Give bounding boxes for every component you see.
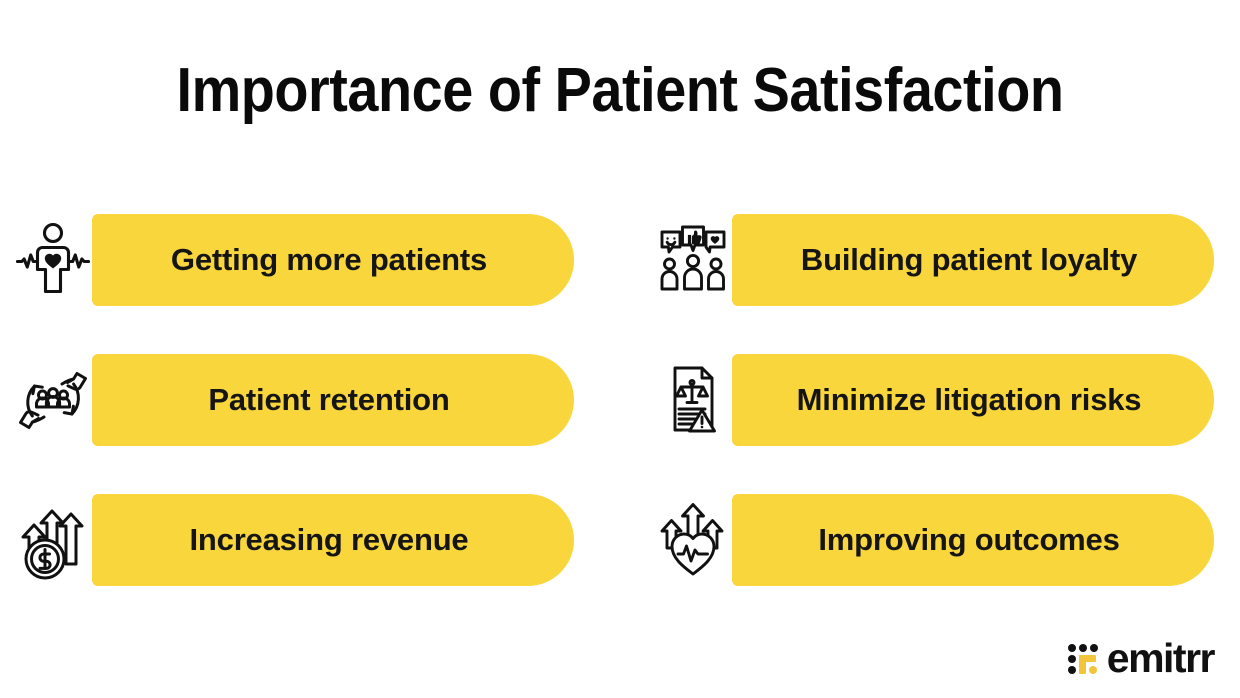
benefit-label: Getting more patients: [171, 243, 487, 277]
benefit-label: Building patient loyalty: [801, 243, 1137, 277]
emitrr-logo-mark-icon: [1068, 643, 1098, 673]
legal-document-scales-warning-icon: [654, 352, 732, 448]
hands-people-cycle-icon: [14, 352, 92, 448]
benefit-pill[interactable]: Improving outcomes: [732, 494, 1214, 586]
benefit-label: Patient retention: [208, 383, 449, 417]
person-heartbeat-icon: [14, 212, 92, 308]
benefits-grid: Getting more patients: [0, 206, 1240, 616]
benefits-column-left: Getting more patients: [14, 206, 574, 616]
benefit-label: Increasing revenue: [190, 523, 469, 557]
benefit-label: Minimize litigation risks: [797, 383, 1142, 417]
benefit-pill[interactable]: Minimize litigation risks: [732, 354, 1214, 446]
benefit-pill[interactable]: Increasing revenue: [92, 494, 574, 586]
dollar-coin-up-arrows-icon: [14, 492, 92, 588]
benefit-row[interactable]: Minimize litigation risks: [654, 352, 1214, 448]
benefit-pill[interactable]: Building patient loyalty: [732, 214, 1214, 306]
emitrr-wordmark-text: emitrr: [1107, 635, 1214, 681]
benefit-pill[interactable]: Patient retention: [92, 354, 574, 446]
page-title: Importance of Patient Satisfaction: [62, 55, 1178, 127]
benefit-row[interactable]: Increasing revenue: [14, 492, 574, 588]
emitrr-wordmark: emitrr: [1107, 638, 1214, 679]
benefits-column-right: Building patient loyalty: [654, 206, 1214, 616]
heart-pulse-up-arrows-icon: [654, 492, 732, 588]
benefit-row[interactable]: Improving outcomes: [654, 492, 1214, 588]
benefit-row[interactable]: Building patient loyalty: [654, 212, 1214, 308]
benefit-row[interactable]: Getting more patients: [14, 212, 574, 308]
emitrr-logo: emitrr: [1068, 636, 1214, 680]
people-feedback-bubbles-icon: [654, 212, 732, 308]
benefit-pill[interactable]: Getting more patients: [92, 214, 574, 306]
benefit-label: Improving outcomes: [818, 523, 1119, 557]
benefit-row[interactable]: Patient retention: [14, 352, 574, 448]
